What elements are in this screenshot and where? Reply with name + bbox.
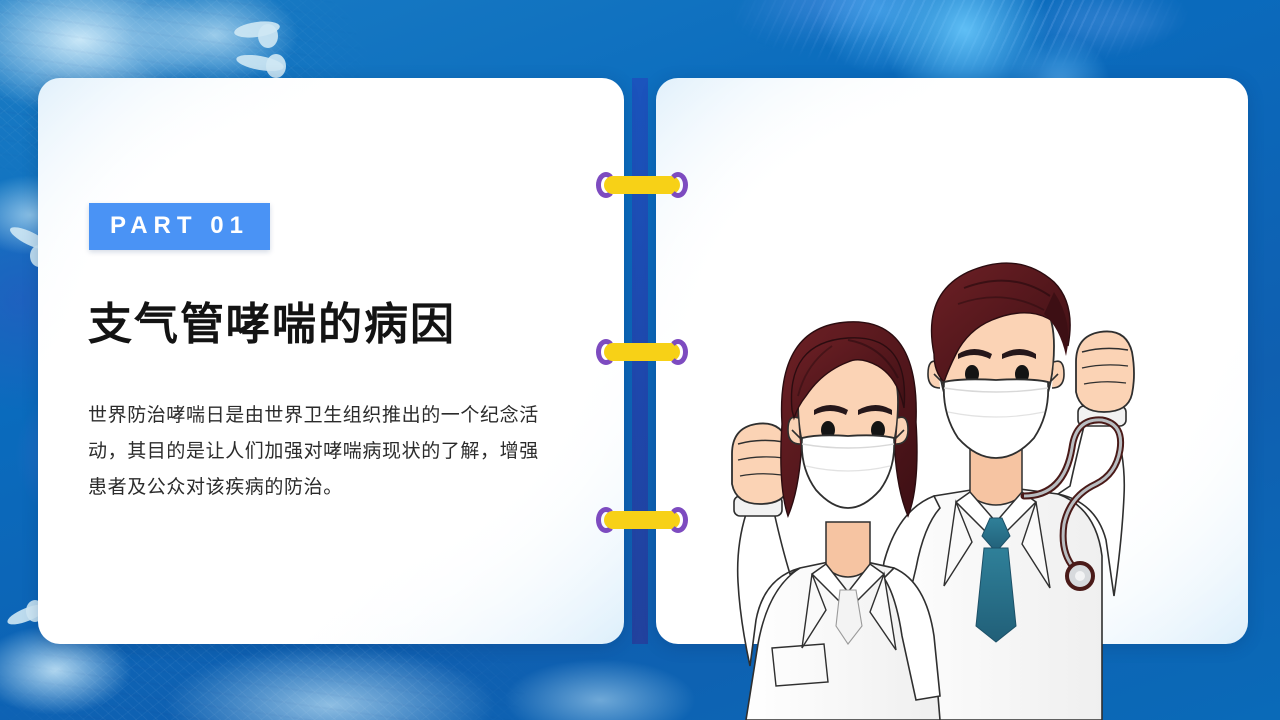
- ring-cap-right: [668, 339, 688, 365]
- page-title: 支气管哮喘的病因: [88, 288, 456, 352]
- virus-spike-icon: [266, 54, 286, 78]
- ring-cap-right: [668, 172, 688, 198]
- slide-root: PART 01 支气管哮喘的病因 世界防治哮喘日是由世界卫生组织推出的一个纪念活…: [0, 0, 1280, 720]
- ring-cap-right: [668, 507, 688, 533]
- binder-ring-1: [596, 172, 688, 198]
- part-badge: PART 01: [89, 203, 270, 250]
- binder-ring-2: [596, 339, 688, 365]
- body-paragraph: 世界防治哮喘日是由世界卫生组织推出的一个纪念活动，其目的是让人们加强对哮喘病现状…: [88, 398, 558, 506]
- left-page-card: [38, 78, 624, 644]
- male-face-mask: [934, 374, 1058, 458]
- female-face-mask: [792, 430, 904, 508]
- male-fist: [1076, 331, 1134, 412]
- virus-spike-icon: [258, 24, 278, 48]
- doctors-illustration: [672, 196, 1272, 720]
- binder-ring-3: [596, 507, 688, 533]
